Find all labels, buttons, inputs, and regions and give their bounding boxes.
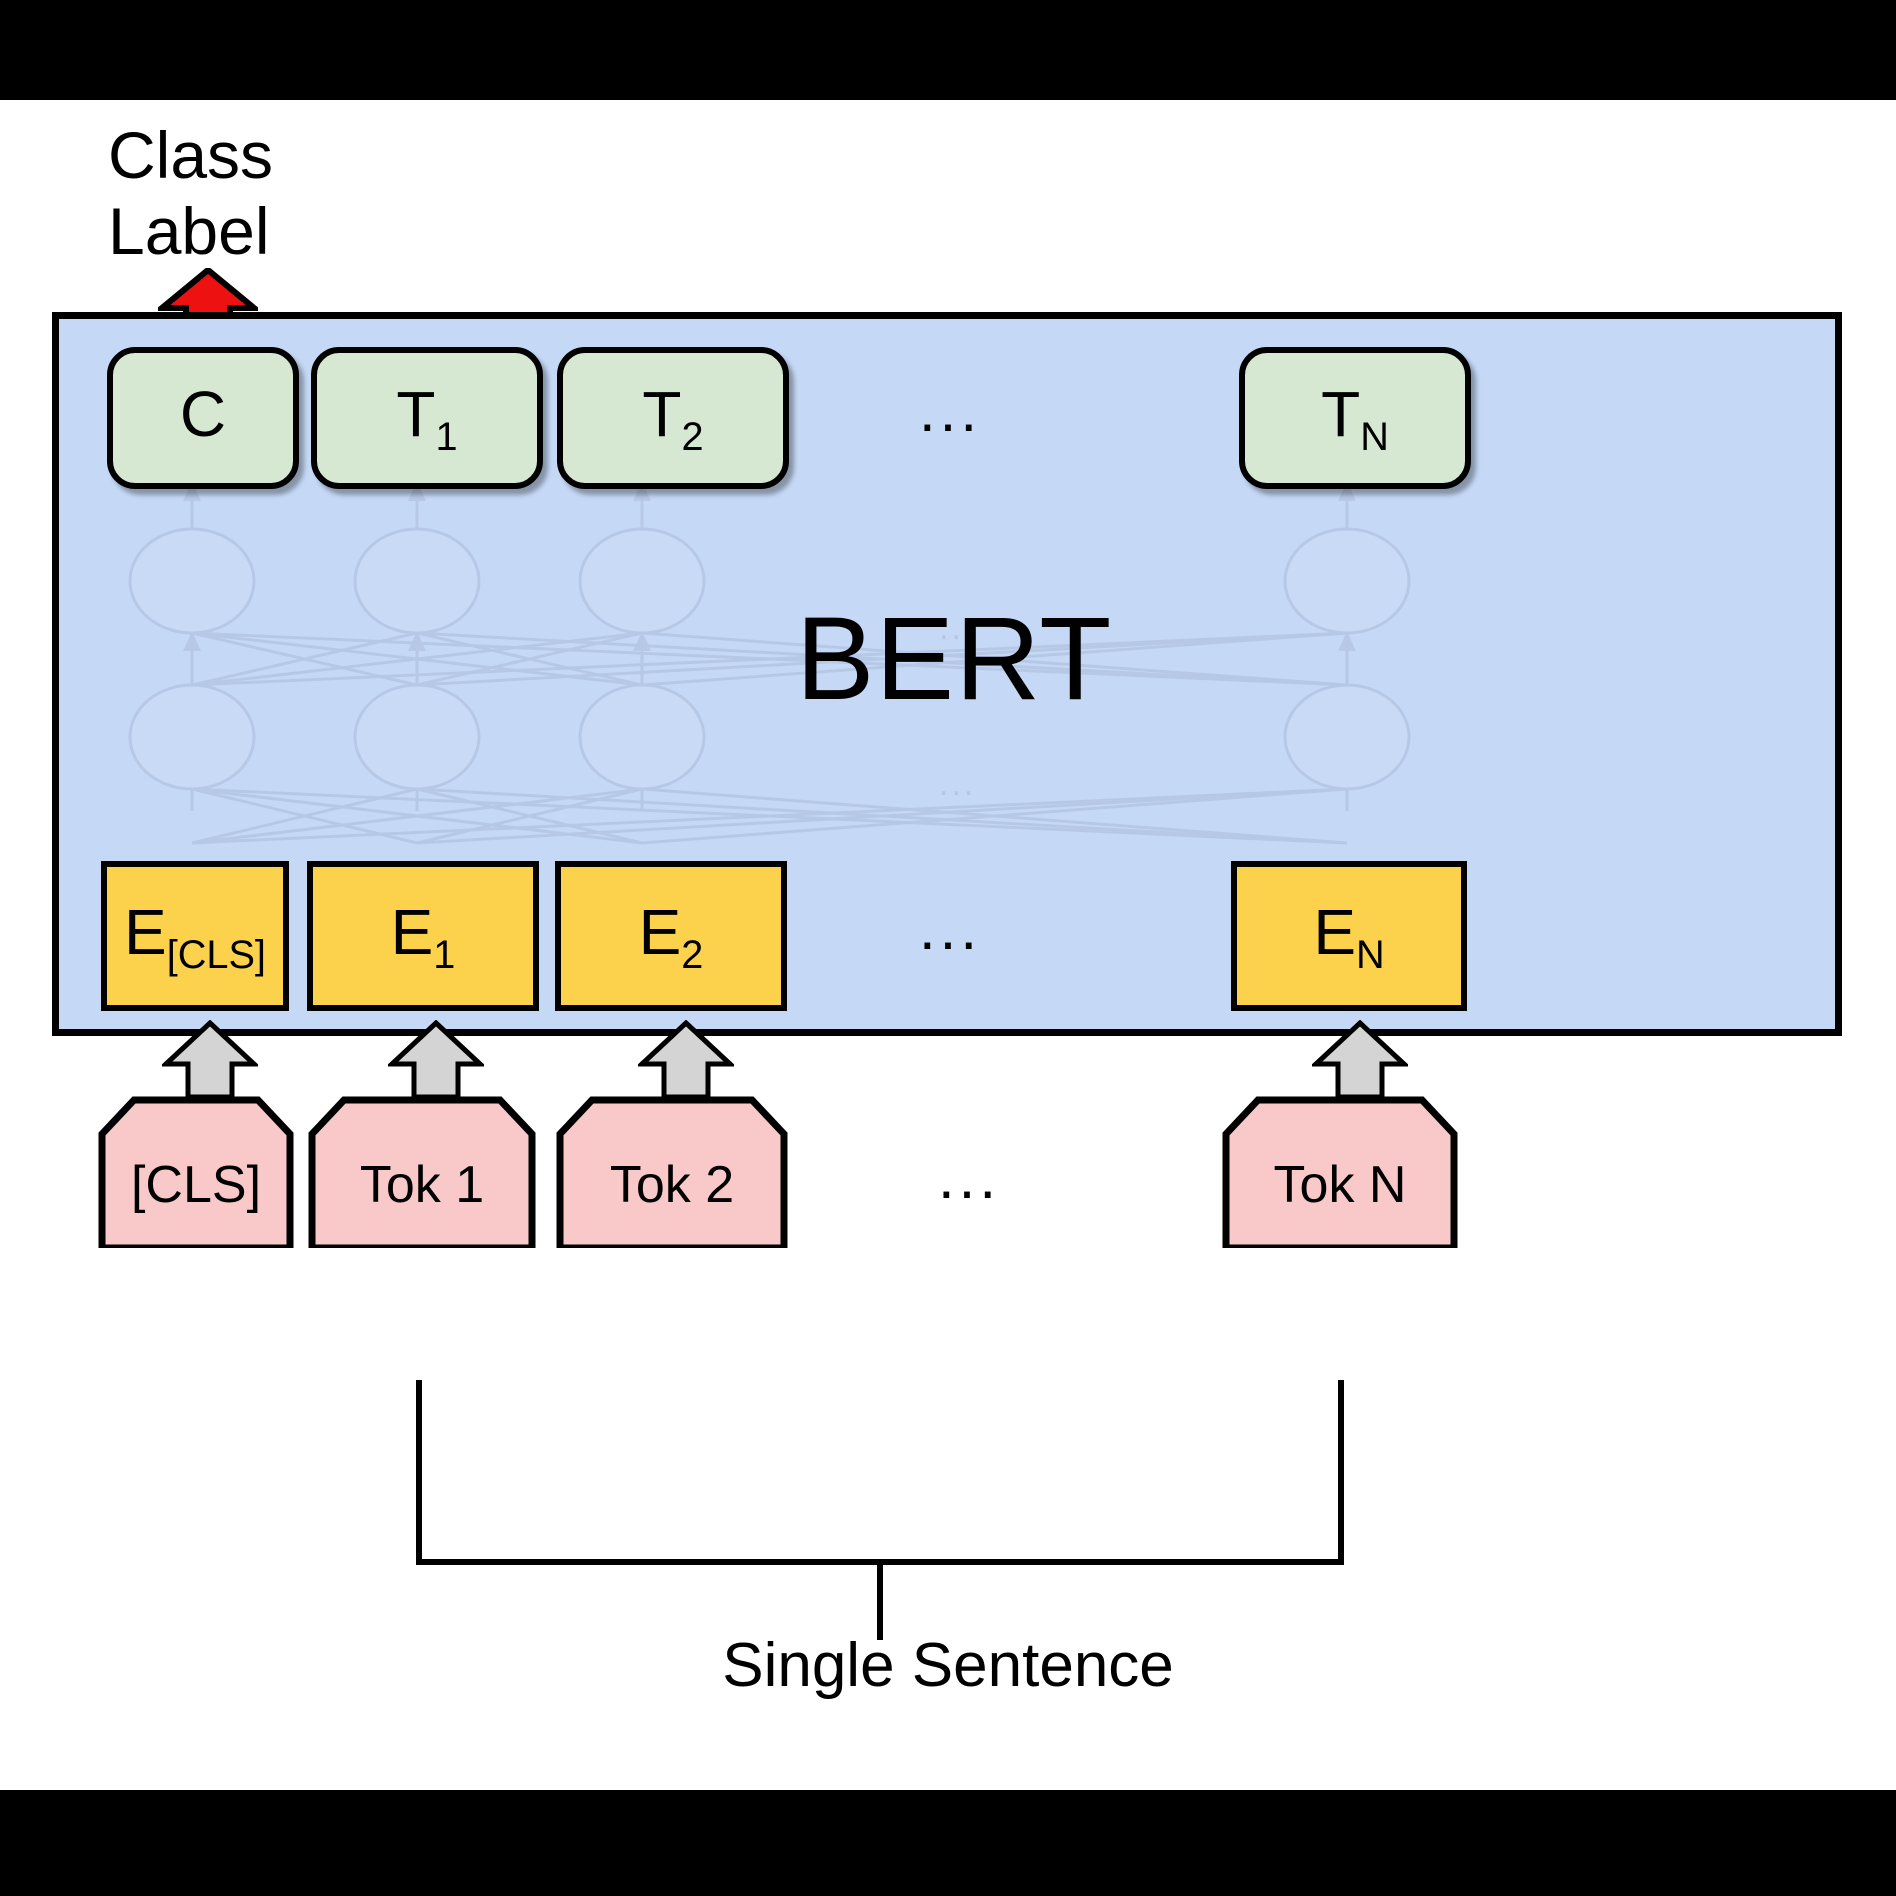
token-label-1: Tok 1	[308, 1096, 536, 1248]
output-box-c: C	[107, 347, 299, 489]
bert-encoder-panel: ... ... BERT C T1 T2 TN ...	[52, 312, 1842, 1036]
token-to-embedding-arrow-cls-icon	[162, 1020, 258, 1100]
token-to-embedding-arrow-n-icon	[1312, 1020, 1408, 1100]
token-label-cls: [CLS]	[98, 1096, 294, 1248]
token-label-n: Tok N	[1222, 1096, 1458, 1248]
embedding-label-cls: E[CLS]	[124, 895, 266, 978]
output-box-t2: T2	[557, 347, 789, 489]
output-label-t1: T1	[396, 377, 457, 460]
sentence-bracket	[0, 1380, 1896, 1640]
embedding-box-e1: E1	[307, 861, 539, 1011]
embedding-label-en: EN	[1313, 895, 1384, 978]
token-box-n[interactable]: Tok N	[1222, 1096, 1458, 1248]
token-box-1[interactable]: Tok 1	[308, 1096, 536, 1248]
embedding-row-ellipsis: ...	[919, 899, 981, 959]
token-row-ellipsis: ...	[938, 1148, 1000, 1208]
letterbox-bottom	[0, 1790, 1896, 1896]
token-to-embedding-arrow-1-icon	[388, 1020, 484, 1100]
embedding-box-en: EN	[1231, 861, 1467, 1011]
embedding-box-cls: E[CLS]	[101, 861, 289, 1011]
token-box-2[interactable]: Tok 2	[556, 1096, 788, 1248]
letterbox-top	[0, 0, 1896, 100]
output-box-t1: T1	[311, 347, 543, 489]
embedding-label-e1: E1	[391, 895, 456, 978]
output-row-ellipsis: ...	[919, 381, 981, 441]
network-ellipsis-lower: ...	[939, 767, 976, 801]
output-box-tn: TN	[1239, 347, 1471, 489]
token-label-2: Tok 2	[556, 1096, 788, 1248]
embedding-label-e2: E2	[639, 895, 704, 978]
output-label-c: C	[180, 377, 226, 460]
output-label-tn: TN	[1321, 377, 1389, 460]
embedding-box-e2: E2	[555, 861, 787, 1011]
class-label-text: Class Label	[108, 118, 438, 270]
token-to-embedding-arrow-2-icon	[638, 1020, 734, 1100]
single-sentence-label: Single Sentence	[0, 1630, 1896, 1701]
figure-canvas: Class Label	[0, 0, 1896, 1896]
token-box-cls[interactable]: [CLS]	[98, 1096, 294, 1248]
bert-wordmark: BERT	[59, 591, 1849, 727]
output-label-t2: T2	[642, 377, 703, 460]
